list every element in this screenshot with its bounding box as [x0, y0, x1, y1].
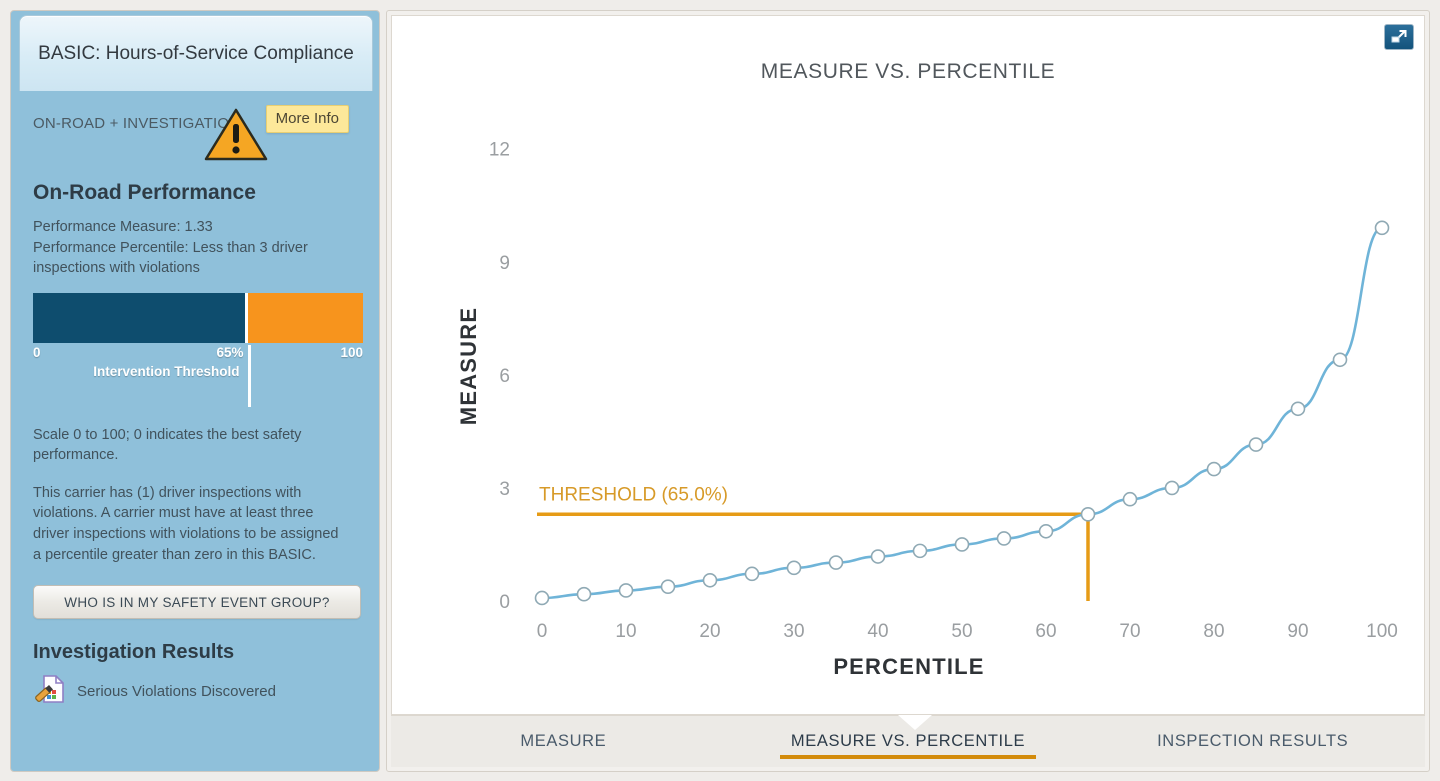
investigation-result-item[interactable]: Serious Violations Discovered: [33, 672, 359, 711]
safety-event-group-button[interactable]: WHO IS IN MY SAFETY EVENT GROUP?: [33, 585, 361, 619]
chart-plot-area: 0369120102030405060708090100THRESHOLD (6…: [392, 16, 1426, 716]
y-tick-label: 3: [499, 479, 510, 500]
chart-svg: 0369120102030405060708090100THRESHOLD (6…: [392, 16, 1426, 716]
tab-measure-vs-percentile[interactable]: MEASURE VS. PERCENTILE: [736, 722, 1081, 761]
x-tick-label: 20: [699, 621, 720, 642]
chart-panel: MEASURE VS. PERCENTILE 03691201020304050…: [386, 10, 1430, 772]
data-point-marker[interactable]: [536, 591, 549, 604]
data-point-marker[interactable]: [1082, 508, 1095, 521]
investigation-results-heading: Investigation Results: [33, 641, 359, 664]
x-tick-label: 10: [615, 621, 636, 642]
x-tick-label: 40: [867, 621, 888, 642]
data-point-marker[interactable]: [872, 550, 885, 563]
x-tick-label: 100: [1366, 621, 1398, 642]
performance-measure-text: Performance Measure: 1.33: [33, 217, 359, 238]
data-point-marker[interactable]: [1292, 402, 1305, 415]
y-tick-label: 6: [499, 366, 510, 387]
y-axis-title: MEASURE: [456, 307, 482, 425]
data-point-marker[interactable]: [956, 538, 969, 551]
carrier-note-text: This carrier has (1) driver inspections …: [33, 483, 345, 565]
gauge-fill: [33, 293, 248, 343]
performance-heading: On-Road Performance: [33, 181, 359, 205]
data-point-marker[interactable]: [1250, 438, 1263, 451]
data-point-marker[interactable]: [1040, 525, 1053, 538]
data-point-marker[interactable]: [662, 580, 675, 593]
data-point-marker[interactable]: [578, 588, 591, 601]
x-tick-label: 70: [1119, 621, 1140, 642]
data-point-marker[interactable]: [830, 556, 843, 569]
x-axis-title: PERCENTILE: [392, 654, 1426, 680]
y-tick-label: 12: [489, 140, 510, 161]
intervention-threshold-gauge: 0 65% 100 Intervention Threshold: [33, 293, 359, 363]
x-tick-label: 60: [1035, 621, 1056, 642]
document-search-icon: [33, 672, 67, 711]
gauge-threshold-label: 65%: [216, 345, 247, 360]
tab-measure[interactable]: MEASURE: [391, 722, 736, 761]
carrier-safety-dashboard: BASIC: Hours-of-Service Compliance ON-RO…: [0, 0, 1440, 781]
sidebar-top-row: ON-ROAD + INVESTIGATION More Info: [33, 105, 359, 177]
data-point-marker[interactable]: [998, 532, 1011, 545]
gauge-max-label: 100: [340, 345, 363, 360]
data-point-marker[interactable]: [746, 567, 759, 580]
active-tab-underline: [780, 755, 1036, 759]
data-point-marker[interactable]: [788, 561, 801, 574]
tab-label: MEASURE: [520, 732, 606, 750]
more-info-button[interactable]: More Info: [266, 105, 349, 133]
basic-sidebar-panel: BASIC: Hours-of-Service Compliance ON-RO…: [10, 10, 380, 772]
data-point-marker[interactable]: [914, 544, 927, 557]
basic-title-text: BASIC: Hours-of-Service Compliance: [24, 41, 368, 67]
data-point-marker[interactable]: [1376, 221, 1389, 234]
data-point-marker[interactable]: [1166, 481, 1179, 494]
x-tick-label: 50: [951, 621, 972, 642]
gauge-labels: 0 65% 100 Intervention Threshold: [33, 345, 363, 363]
data-point-marker[interactable]: [1334, 353, 1347, 366]
x-tick-label: 80: [1203, 621, 1224, 642]
x-tick-label: 0: [537, 621, 548, 642]
warning-triangle-icon: [203, 107, 269, 163]
gauge-threshold-tick: [248, 345, 251, 407]
chart-card: MEASURE VS. PERCENTILE 03691201020304050…: [391, 15, 1425, 715]
basic-title-tab[interactable]: BASIC: Hours-of-Service Compliance: [19, 15, 373, 91]
x-tick-label: 90: [1287, 621, 1308, 642]
sidebar-body: ON-ROAD + INVESTIGATION More Info On-Roa…: [11, 93, 379, 771]
performance-percentile-text: Performance Percentile: Less than 3 driv…: [33, 238, 359, 279]
data-point-marker[interactable]: [704, 574, 717, 587]
gauge-min-label: 0: [33, 345, 41, 360]
threshold-annotation-label: THRESHOLD (65.0%): [539, 484, 728, 505]
tab-label: MEASURE VS. PERCENTILE: [791, 732, 1025, 750]
chart-tab-bar: MEASUREMEASURE VS. PERCENTILEINSPECTION …: [391, 715, 1425, 767]
data-point-marker[interactable]: [1208, 463, 1221, 476]
tab-inspection-results[interactable]: INSPECTION RESULTS: [1080, 722, 1425, 761]
data-point-marker[interactable]: [1124, 493, 1137, 506]
investigation-result-label: Serious Violations Discovered: [77, 683, 276, 700]
gauge-bar: [33, 293, 363, 343]
scale-note-text: Scale 0 to 100; 0 indicates the best saf…: [33, 425, 359, 466]
y-tick-label: 0: [499, 592, 510, 613]
gauge-threshold-caption: Intervention Threshold: [33, 363, 248, 381]
x-tick-label: 30: [783, 621, 804, 642]
tab-label: INSPECTION RESULTS: [1157, 732, 1348, 750]
y-tick-label: 9: [499, 253, 510, 274]
data-point-marker[interactable]: [620, 584, 633, 597]
